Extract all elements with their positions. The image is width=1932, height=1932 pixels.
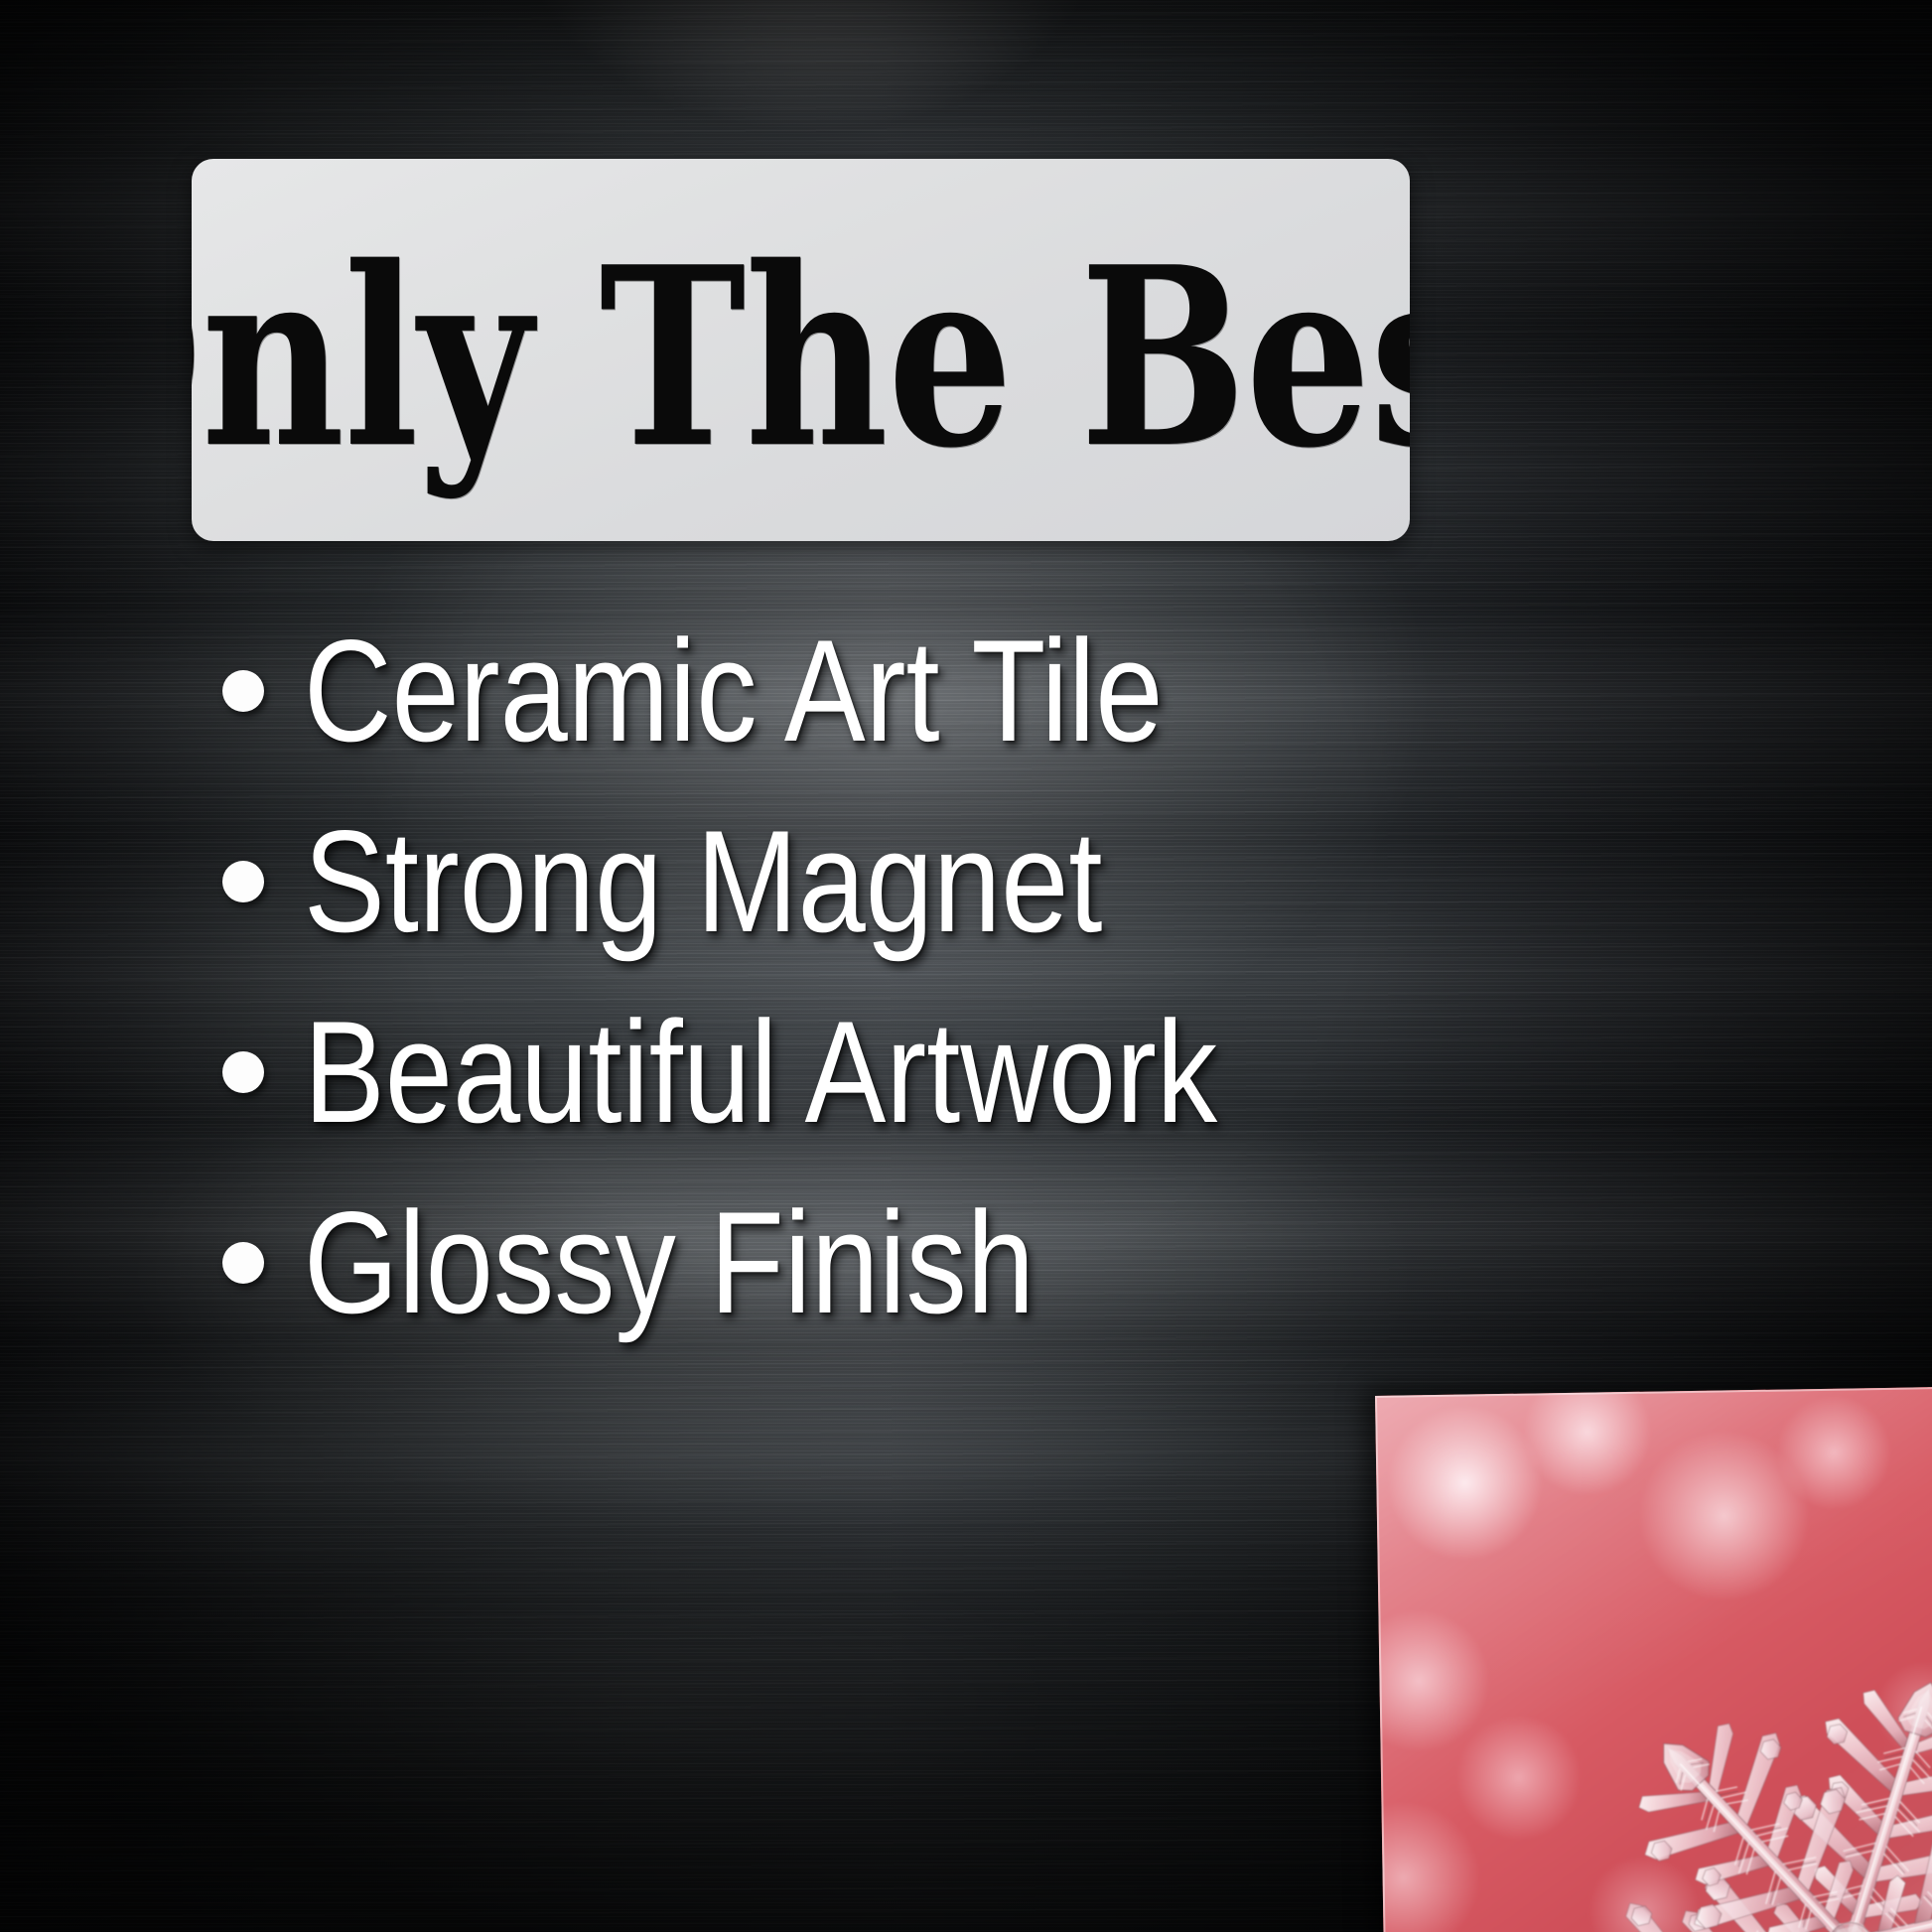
feature-label: Ceramic Art Tile [304,619,1163,763]
list-item: Strong Magnet [195,786,1525,977]
feature-label: Beautiful Artwork [304,1000,1217,1145]
feature-label: Glossy Finish [304,1190,1035,1335]
headline-title: Only The Best [192,235,1410,482]
list-item: Glossy Finish [195,1168,1525,1358]
tile-photo [1375,1387,1932,1932]
snowflake-icon [1375,1387,1932,1932]
product-tile [1375,1387,1932,1932]
product-listing-image: Only The Best Ceramic Art Tile Strong Ma… [0,0,1932,1932]
feature-label: Strong Magnet [304,809,1102,954]
bullet-dot-icon [222,861,264,902]
feature-list: Ceramic Art Tile Strong Magnet Beautiful… [195,596,1525,1358]
bullet-dot-icon [222,670,264,712]
list-item: Beautiful Artwork [195,977,1525,1168]
list-item: Ceramic Art Tile [195,596,1525,786]
headline-banner: Only The Best [192,159,1410,541]
bullet-dot-icon [222,1242,264,1284]
bullet-dot-icon [222,1051,264,1093]
